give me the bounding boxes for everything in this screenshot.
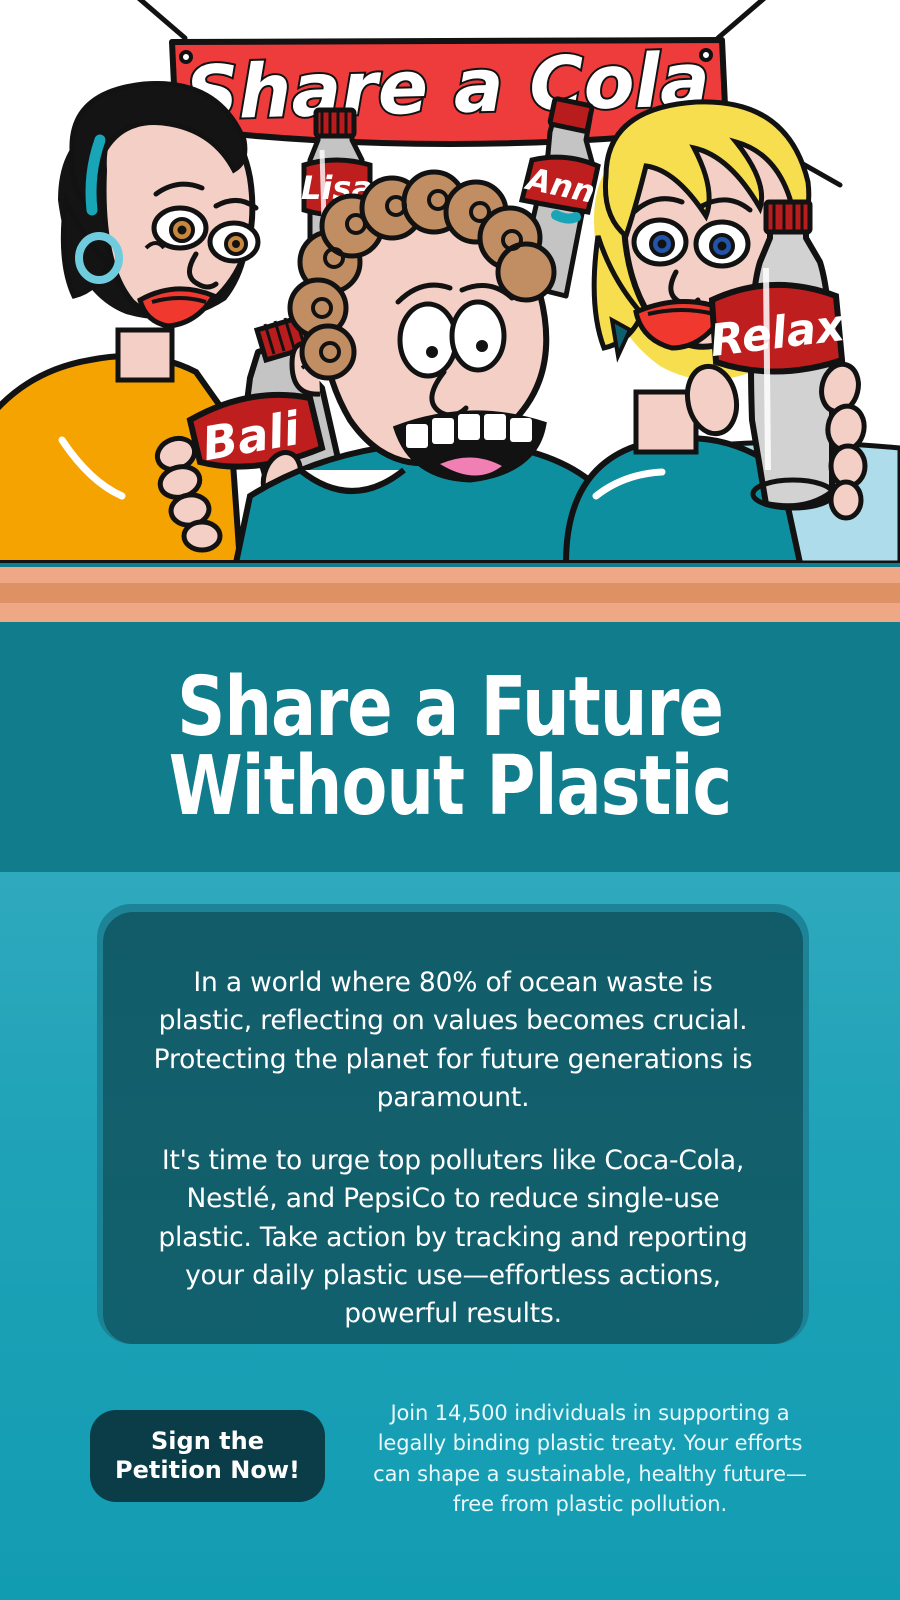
lower-section: In a world where 80% of ocean waste is p…	[0, 872, 900, 1600]
headline-band: Share a Future Without Plastic	[0, 622, 900, 872]
cta-button-line-2: Petition Now!	[115, 1456, 300, 1485]
cta-button-line-1: Sign the	[151, 1427, 264, 1456]
stripe-tan-middle	[0, 583, 900, 603]
body-card: In a world where 80% of ocean waste is p…	[103, 912, 803, 1344]
headline-line-2: Without Plastic	[169, 747, 732, 826]
body-paragraph-2: It's time to urge top polluters like Coc…	[143, 1142, 763, 1334]
transition-stripes	[0, 563, 900, 622]
body-paragraph-1: In a world where 80% of ocean waste is p…	[143, 964, 763, 1118]
cta-supporting-text: Join 14,500 individuals in supporting a …	[360, 1398, 820, 1520]
poster-root: Share a Cola Lisa Ann	[0, 0, 900, 1600]
stripe-salmon-top	[0, 567, 900, 583]
stripe-salmon-bottom	[0, 603, 900, 622]
page-title: Share a Future Without Plastic	[169, 668, 732, 827]
cta-row: Sign the Petition Now! Join 14,500 indiv…	[0, 1382, 900, 1552]
sign-petition-button[interactable]: Sign the Petition Now!	[90, 1410, 325, 1502]
hero-illustration: Share a Cola Lisa Ann	[0, 0, 900, 563]
